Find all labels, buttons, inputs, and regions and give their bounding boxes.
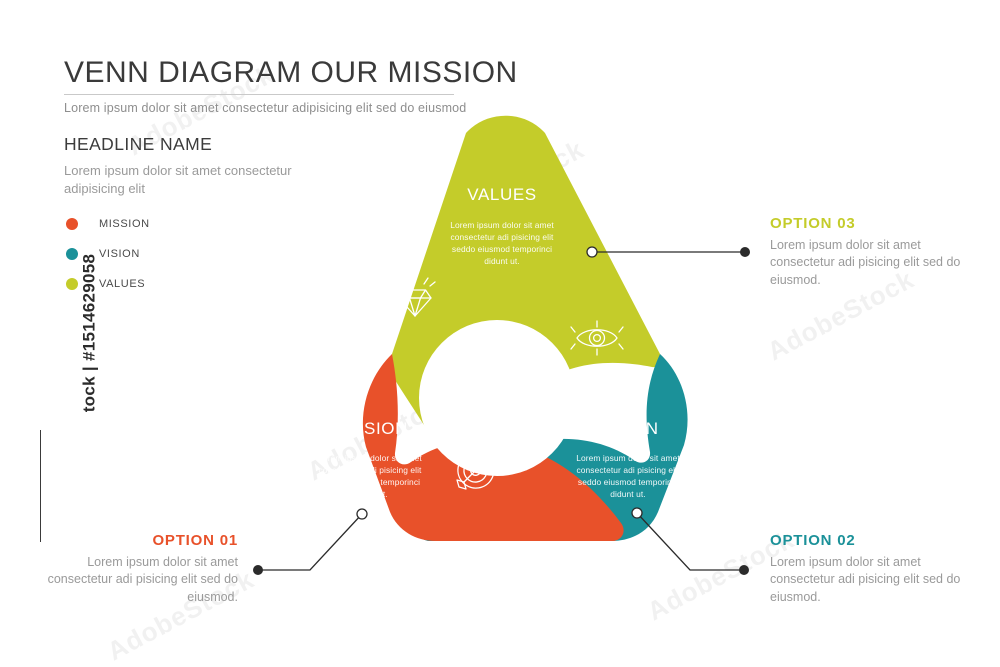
watermark-divider [40,430,41,542]
segment-mission-body: seddo eiusmod temporinci [320,477,420,487]
segment-mission-body: Lorem ipsum dolor sit amet [318,453,422,463]
segment-vision-body: Lorem ipsum dolor sit amet [576,453,680,463]
segment-vision-title: VISION [597,419,658,438]
segment-mission-body: consectetur adi pisicing elit [319,465,423,475]
callout-title: OPTION 01 [40,532,238,549]
venn-pinwheel-diagram: VALUES Lorem ipsum dolor sit amet consec… [262,110,742,550]
segment-mission-title: MISSION [332,419,408,438]
callout-body: Lorem ipsum dolor sit amet consectetur a… [40,554,238,606]
header: VENN DIAGRAM OUR MISSION Lorem ipsum dol… [64,57,464,115]
callout-title: OPTION 03 [770,215,970,232]
segment-values-body: seddo eiusmod temporinci [452,244,552,254]
callout-option-01[interactable]: OPTION 01 Lorem ipsum dolor sit amet con… [40,532,238,606]
segment-vision-body: consectetur adi pisicing elit [577,465,681,475]
legend-dot-icon [66,278,78,290]
callout-option-03[interactable]: OPTION 03 Lorem ipsum dolor sit amet con… [770,215,970,289]
callout-option-02[interactable]: OPTION 02 Lorem ipsum dolor sit amet con… [770,532,970,606]
legend-label: VALUES [99,278,145,290]
segment-mission-body: didunt ut. [352,489,387,499]
segment-values-body: didunt ut. [484,256,519,266]
legend-item-mission[interactable]: MISSION [66,209,276,239]
segment-values-body: consectetur adi pisicing elit [451,232,555,242]
page-title: VENN DIAGRAM OUR MISSION [64,57,464,89]
callout-body: Lorem ipsum dolor sit amet consectetur a… [770,554,970,606]
legend-label: VISION [99,248,140,260]
infographic-page: AdobeStock AdobeStock AdobeStock AdobeSt… [0,0,1000,667]
center-hole [419,320,575,476]
callout-title: OPTION 02 [770,532,970,549]
segment-values-title: VALUES [467,185,536,204]
watermark-id-text: tock | #1514629058 [79,254,99,413]
segment-vision-body: seddo eiusmod temporinci [578,477,678,487]
segment-values-body: Lorem ipsum dolor sit amet [450,220,554,230]
title-divider [64,94,454,95]
legend-dot-icon [66,218,78,230]
legend-dot-icon [66,248,78,260]
segment-vision-body: didunt ut. [610,489,645,499]
callout-body: Lorem ipsum dolor sit amet consectetur a… [770,237,970,289]
legend-label: MISSION [99,218,150,230]
